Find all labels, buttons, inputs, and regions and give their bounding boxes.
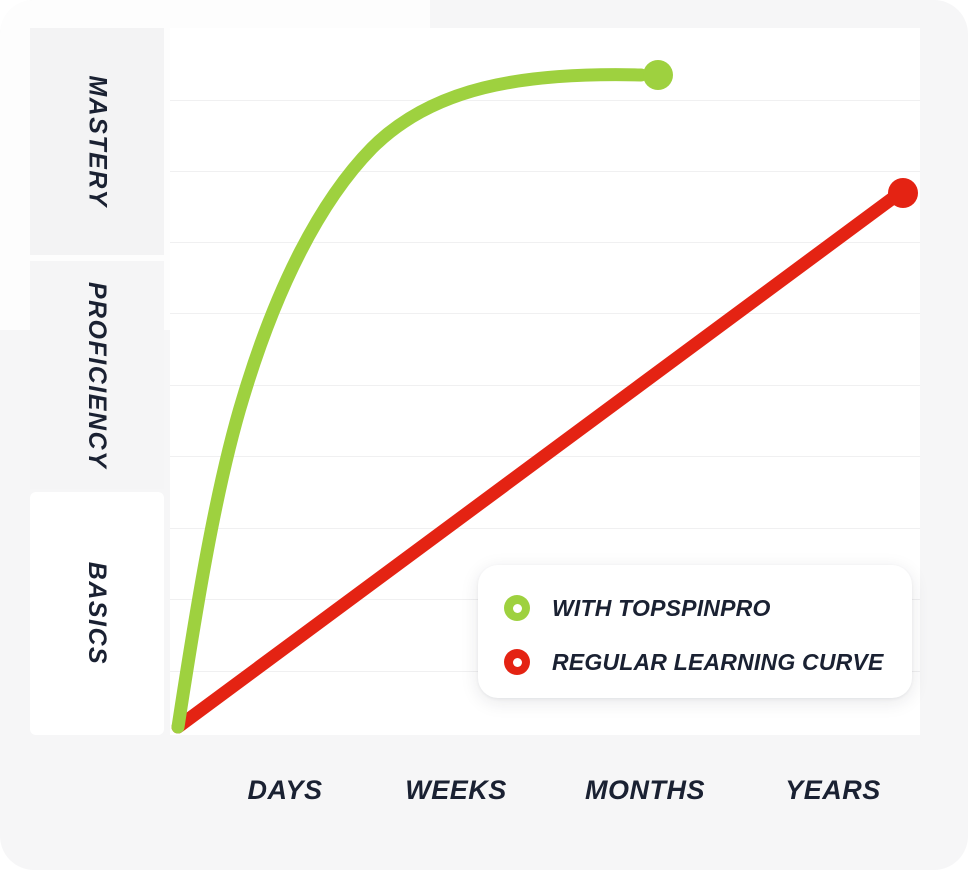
gridline	[170, 242, 920, 243]
gridline	[170, 456, 920, 457]
gridline	[170, 385, 920, 386]
y-axis-label-basics: BASICS	[83, 562, 112, 665]
legend-label-with-topspinpro: WITH TOPSPINPRO	[552, 595, 771, 622]
y-axis-band-basics: BASICS	[30, 492, 164, 735]
y-axis-label-proficiency: PROFICIENCY	[83, 281, 112, 468]
gridline	[170, 171, 920, 172]
x-axis-tick-months: MONTHS	[585, 775, 705, 806]
legend-item-with-topspinpro[interactable]: WITH TOPSPINPRO	[504, 585, 912, 631]
legend-marker-hole	[513, 658, 522, 667]
y-axis-band-proficiency: PROFICIENCY	[30, 261, 164, 489]
chart-legend: WITH TOPSPINPRO REGULAR LEARNING CURVE	[478, 565, 912, 698]
x-axis-tick-weeks: WEEKS	[405, 775, 507, 806]
gridline	[170, 528, 920, 529]
chart-card: MASTERY PROFICIENCY BASICS WITH TOPSPINP…	[0, 0, 968, 870]
x-axis-tick-years: YEARS	[785, 775, 881, 806]
legend-marker-hole	[513, 604, 522, 613]
chart-screenshot: MASTERY PROFICIENCY BASICS WITH TOPSPINP…	[0, 0, 968, 870]
y-axis-band-mastery: MASTERY	[30, 28, 164, 255]
gridline	[170, 100, 920, 101]
x-axis-tick-days: DAYS	[247, 775, 322, 806]
gridline	[170, 313, 920, 314]
y-axis-label-mastery: MASTERY	[83, 75, 112, 207]
legend-marker-green-icon	[504, 595, 530, 621]
legend-label-regular-learning-curve: REGULAR LEARNING CURVE	[552, 649, 884, 676]
legend-item-regular-learning-curve[interactable]: REGULAR LEARNING CURVE	[504, 639, 912, 685]
legend-marker-red-icon	[504, 649, 530, 675]
x-axis: DAYS WEEKS MONTHS YEARS	[170, 775, 920, 827]
